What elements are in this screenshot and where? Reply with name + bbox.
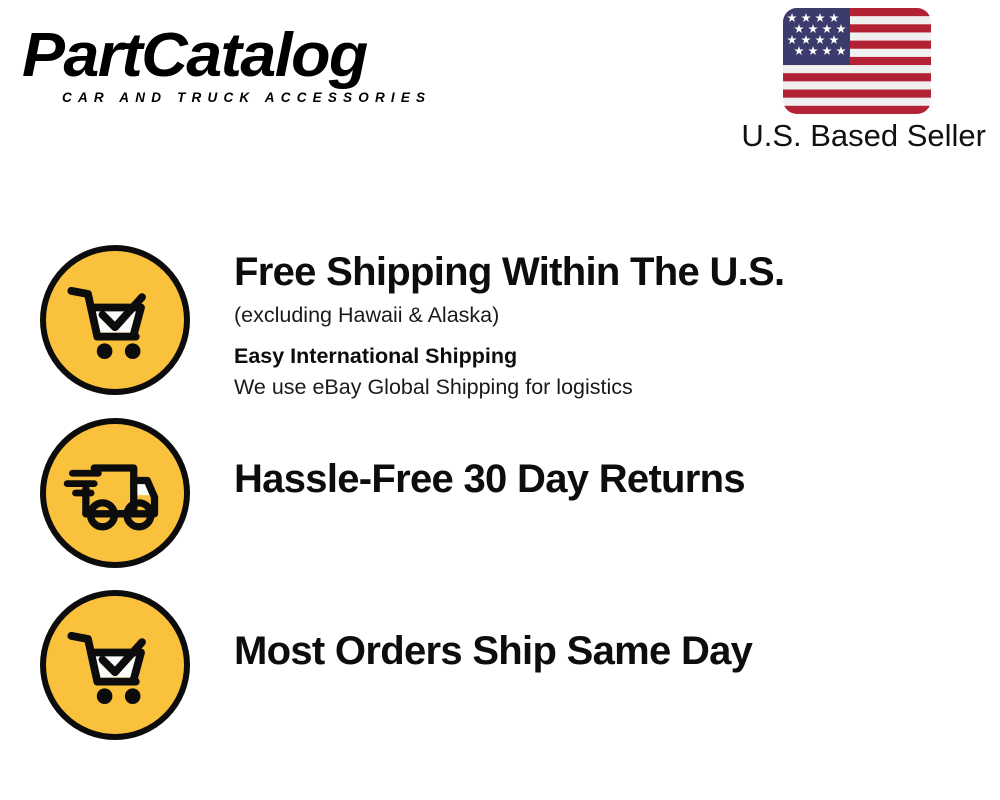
feature-secondary-subtitle: We use eBay Global Shipping for logistic… bbox=[234, 372, 980, 402]
brand-tagline: CAR AND TRUCK ACCESSORIES bbox=[62, 90, 492, 105]
brand-logo: PartCatalog CAR AND TRUCK ACCESSORIES bbox=[22, 24, 492, 114]
brand-wordmark: PartCatalog bbox=[22, 24, 511, 88]
promo-banner: PartCatalog CAR AND TRUCK ACCESSORIES bbox=[0, 0, 1000, 800]
feature-subtitle: (excluding Hawaii & Alaska) bbox=[234, 300, 980, 330]
feature-text-block: Free Shipping Within The U.S. (excluding… bbox=[190, 245, 980, 402]
feature-item: Free Shipping Within The U.S. (excluding… bbox=[40, 245, 980, 410]
us-based-seller-label: U.S. Based Seller bbox=[722, 118, 992, 154]
feature-title: Free Shipping Within The U.S. bbox=[234, 249, 980, 295]
feature-secondary-title: Easy International Shipping bbox=[234, 342, 980, 371]
us-flag-icon bbox=[783, 8, 931, 114]
banner-header: PartCatalog CAR AND TRUCK ACCESSORIES bbox=[0, 0, 1000, 170]
shopping-cart-check-icon bbox=[40, 590, 190, 740]
feature-text-block: Hassle-Free 30 Day Returns bbox=[190, 418, 980, 502]
feature-item: Most Orders Ship Same Day bbox=[40, 590, 980, 745]
us-based-seller-badge: U.S. Based Seller bbox=[722, 8, 992, 154]
delivery-truck-icon bbox=[40, 418, 190, 568]
feature-title: Most Orders Ship Same Day bbox=[234, 628, 980, 674]
feature-title: Hassle-Free 30 Day Returns bbox=[234, 456, 980, 502]
feature-text-block: Most Orders Ship Same Day bbox=[190, 590, 980, 674]
shopping-cart-check-icon bbox=[40, 245, 190, 395]
feature-item: Hassle-Free 30 Day Returns bbox=[40, 418, 980, 573]
